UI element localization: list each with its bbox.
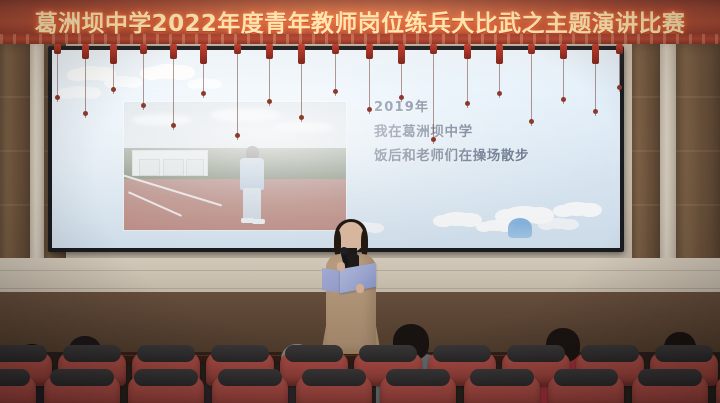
auditorium-seat xyxy=(296,376,372,403)
hanging-tassel xyxy=(202,44,205,98)
seat-headrest xyxy=(386,369,450,386)
hanging-tassel xyxy=(172,44,175,130)
cloud-shape xyxy=(544,218,572,229)
auditorium-seat xyxy=(0,376,36,403)
hanging-tassel xyxy=(84,44,87,118)
wall-beige-strip-left xyxy=(30,44,44,294)
auditorium-seat xyxy=(44,376,120,403)
seat-headrest xyxy=(554,369,618,386)
seat-headrest xyxy=(137,345,194,362)
seat-headrest xyxy=(134,369,198,386)
seat-headrest xyxy=(507,345,564,362)
hanging-tassel xyxy=(300,44,303,122)
hanging-tassel xyxy=(112,44,115,94)
hanging-tassel xyxy=(562,44,565,104)
seat-headrest xyxy=(638,369,702,386)
seat-headrest xyxy=(359,345,416,362)
hanging-tassel xyxy=(56,44,59,102)
slide-line-school: 我在葛洲坝中学 xyxy=(374,120,614,144)
cloud-shape xyxy=(148,64,186,79)
seat-headrest xyxy=(285,345,342,362)
seat-headrest xyxy=(211,345,268,362)
auditorium-seat xyxy=(632,376,708,403)
seat-headrest xyxy=(581,345,638,362)
seat-headrest xyxy=(63,345,120,362)
speaker-hand-right xyxy=(356,284,364,293)
speaker-hand-left xyxy=(337,262,345,271)
hanging-tassel xyxy=(142,44,145,110)
cloud-shape xyxy=(74,66,108,80)
wall-wood-panel-left-1 xyxy=(0,44,30,294)
hill-decoration xyxy=(508,218,532,238)
wall-wood-panel-right-1 xyxy=(632,44,660,294)
event-banner-text: 葛洲坝中学2022年度青年教师岗位练兵大比武之主题演讲比赛 xyxy=(0,6,720,36)
wall-beige-strip-right xyxy=(660,44,676,294)
hanging-tassel xyxy=(400,44,403,102)
hanging-tassel xyxy=(530,44,533,126)
auditorium-seat xyxy=(464,376,540,403)
speaker-hair-side-right xyxy=(361,230,368,256)
hanging-tassel xyxy=(268,44,271,106)
hanging-tassel xyxy=(334,44,337,96)
microphone-head xyxy=(340,247,348,255)
hanging-tassel xyxy=(466,44,469,108)
slide-text-block: 2019年 我在葛洲坝中学 饭后和老师们在操场散步 xyxy=(374,96,614,168)
photo-overlay-haze xyxy=(124,102,346,230)
slide-line-year: 2019年 xyxy=(374,96,614,120)
seat-headrest xyxy=(50,369,114,386)
cloud-shape xyxy=(64,86,94,98)
hanging-tassel xyxy=(236,44,239,140)
seat-headrest xyxy=(302,369,366,386)
slide-line-walk: 饭后和老师们在操场散步 xyxy=(374,144,614,168)
seat-headrest xyxy=(433,345,490,362)
hanging-tassel xyxy=(368,44,371,114)
seat-headrest xyxy=(655,345,712,362)
cloud-shape xyxy=(560,202,594,216)
auditorium-seat xyxy=(380,376,456,403)
wall-wood-panel-right-2 xyxy=(676,44,720,294)
seat-headrest xyxy=(0,345,47,362)
ceiling-banner-area: 葛洲坝中学2022年度青年教师岗位练兵大比武之主题演讲比赛 xyxy=(0,0,720,46)
auditorium-seat xyxy=(548,376,624,403)
seat-headrest xyxy=(470,369,534,386)
hanging-tassel xyxy=(594,44,597,116)
auditorium-seat xyxy=(128,376,204,403)
hanging-tassel xyxy=(432,44,435,144)
hanging-tassel xyxy=(618,44,621,92)
hanging-tassel xyxy=(498,44,501,98)
auditorium-scene: 葛洲坝中学2022年度青年教师岗位练兵大比武之主题演讲比赛 xyxy=(0,0,720,403)
auditorium-seat xyxy=(212,376,288,403)
slide-photo xyxy=(124,102,346,230)
seat-headrest xyxy=(218,369,282,386)
seat-headrest xyxy=(0,369,30,386)
cloud-shape xyxy=(440,212,474,226)
